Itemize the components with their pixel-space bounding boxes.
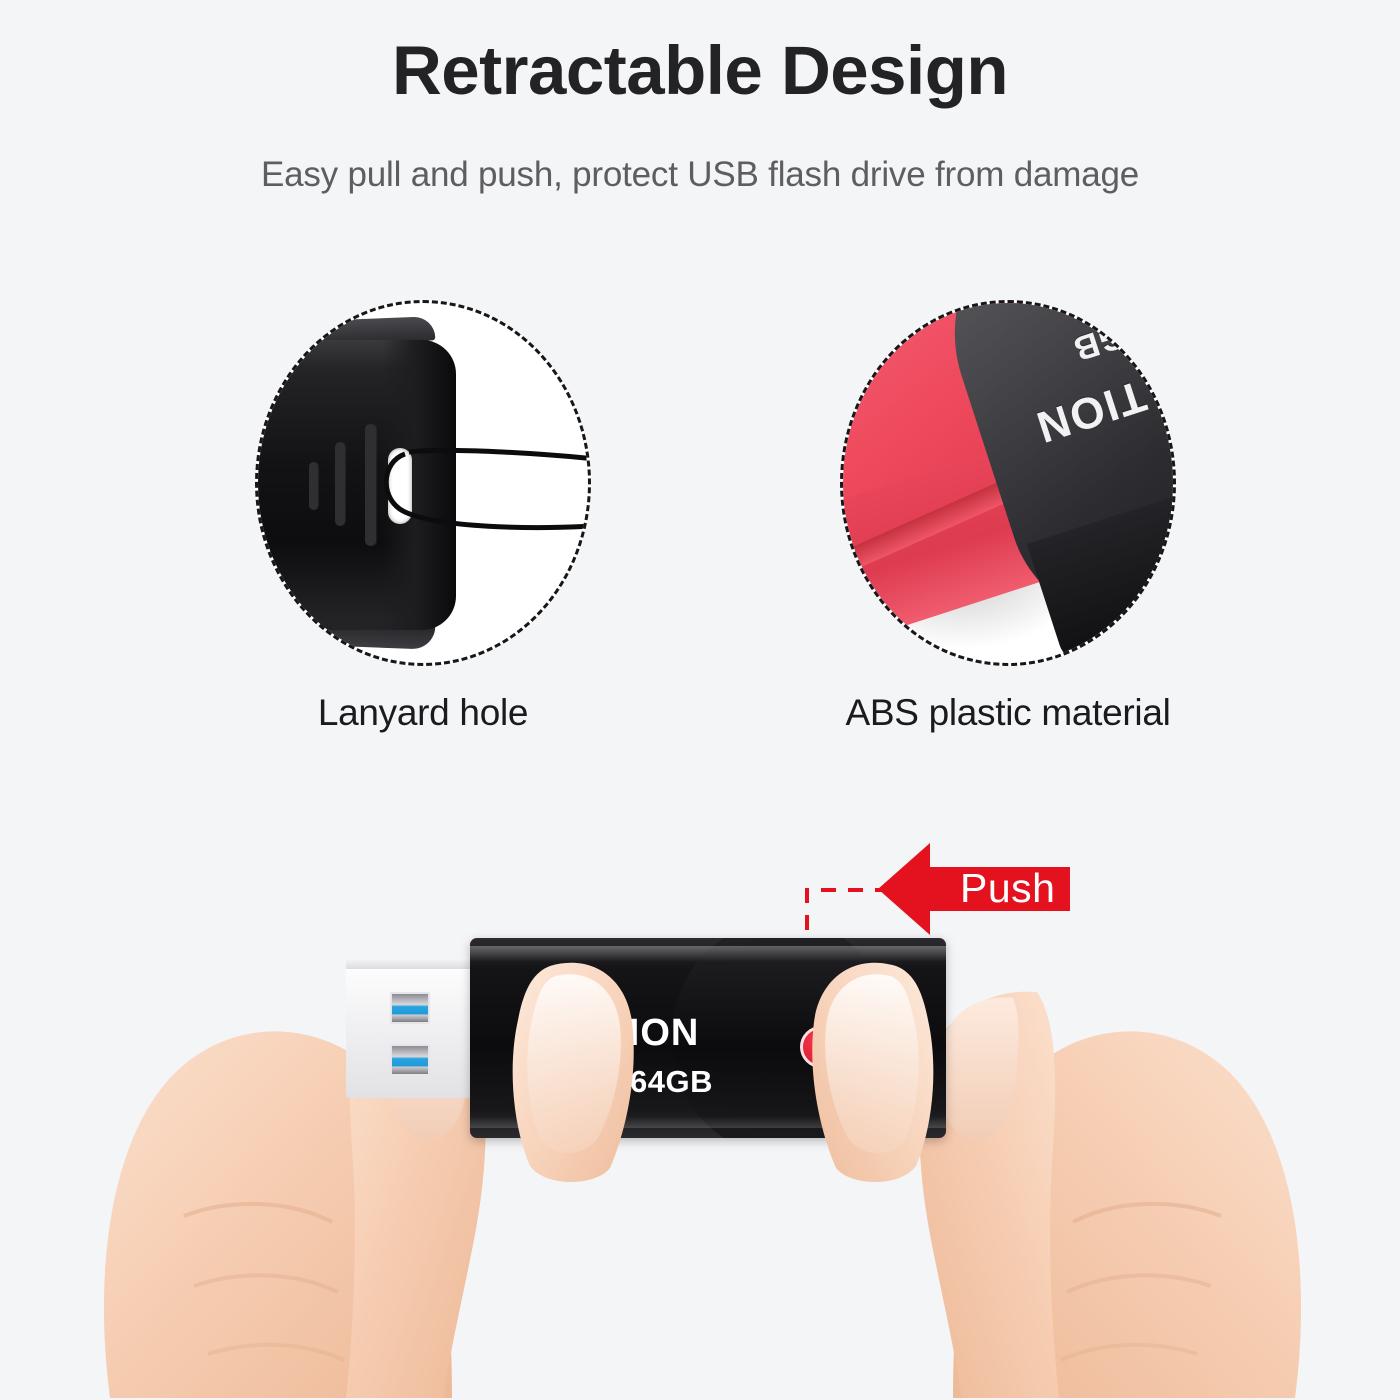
push-label: Push — [960, 865, 1055, 912]
callout-caption-abs: ABS plastic material — [798, 692, 1218, 734]
plastic-housing: TION GB — [840, 300, 1176, 666]
usb-connector — [346, 968, 476, 1098]
callout-photo-lanyard — [255, 300, 591, 666]
usb3-contact-slot — [390, 1044, 430, 1076]
page-title: Retractable Design — [0, 34, 1400, 107]
grip-ridge-1 — [309, 462, 318, 510]
push-arrow: Push — [878, 843, 1070, 935]
page-subtitle: Easy pull and push, protect USB flash dr… — [0, 155, 1400, 195]
grip-ridge-2 — [335, 442, 345, 526]
lanyard-cord-icon — [375, 428, 591, 558]
product-feature-image: Retractable Design Easy pull and push, p… — [0, 0, 1400, 1400]
usb3-contact-slot — [390, 992, 430, 1024]
callout-circle-abs: TION GB — [840, 300, 1176, 666]
callout-photo-abs: TION GB — [840, 300, 1176, 666]
left-index-finger-over-drive — [498, 958, 668, 1188]
callout-caption-lanyard: Lanyard hole — [213, 692, 633, 734]
right-index-finger-over-drive — [778, 958, 948, 1188]
callout-circle-lanyard — [255, 300, 591, 666]
